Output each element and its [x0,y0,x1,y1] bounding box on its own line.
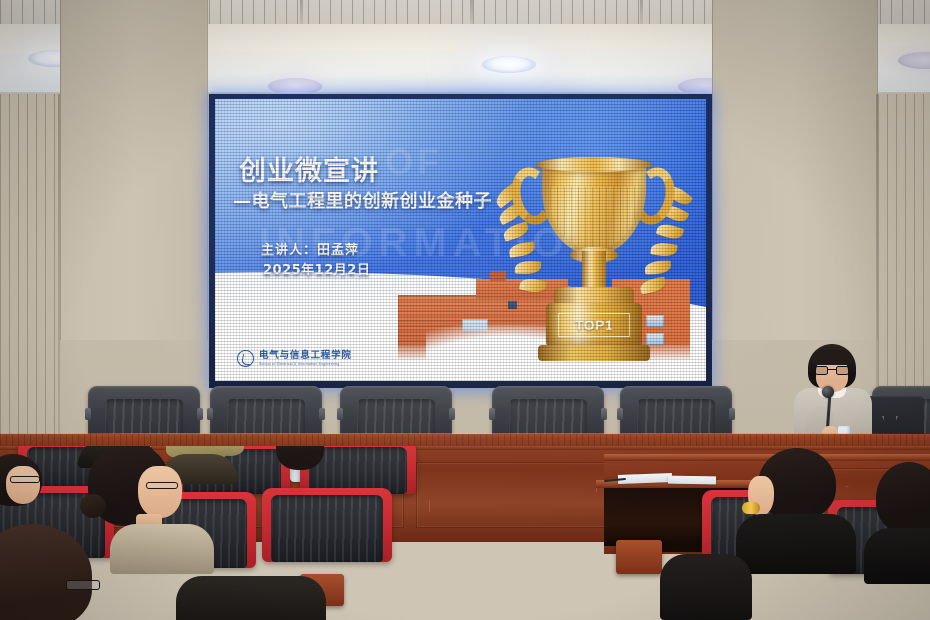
slide-title: 创业微宣讲 [239,149,379,188]
flip-desk [616,540,662,574]
microphone-head [822,386,834,398]
led-screen-frame: OF INFORMATION [209,94,712,388]
slide-date-line: 2025年12月2日 [263,259,370,278]
wall-seam [58,94,60,434]
wall-slat-texture-left [0,94,60,434]
ceiling-rib [640,0,643,26]
trophy-foot [538,345,650,361]
lecture-hall-photo: OF INFORMATION [0,0,930,620]
logo-english-name: School of Electrical & Information Engin… [259,363,352,366]
slide-watermark-of: OF [385,141,443,183]
trophy-rim [536,157,652,172]
audience-area [0,446,930,620]
ceiling-light-icon [482,56,536,73]
presentation-slide: OF INFORMATION [215,99,706,381]
desk-panel [416,462,606,528]
trophy-plate: TOP1 [558,313,630,337]
trophy-icon: TOP1 [498,127,688,377]
logo-chinese-name: 电气与信息工程学院 [259,351,352,361]
slide-speaker-line: 主讲人：田孟萍 [261,239,359,258]
ceiling-rib [470,0,473,26]
presenter-glasses [815,366,849,375]
paper-sheet [668,476,716,485]
logo-emblem-icon [237,350,254,367]
wall-panel [60,0,208,340]
slide-subtitle: —电气工程里的创新创业金种子 [233,187,492,213]
presenter-fringe [812,350,853,365]
wall-panel [712,0,878,340]
audience-seat [262,488,392,562]
ceiling-rib [300,0,303,26]
trophy-label: TOP1 [575,317,613,333]
wall-slat-texture-right [878,94,930,434]
university-logo-icon: 电气与信息工程学院 School of Electrical & Informa… [237,350,352,367]
audience-bracelet [742,502,760,514]
